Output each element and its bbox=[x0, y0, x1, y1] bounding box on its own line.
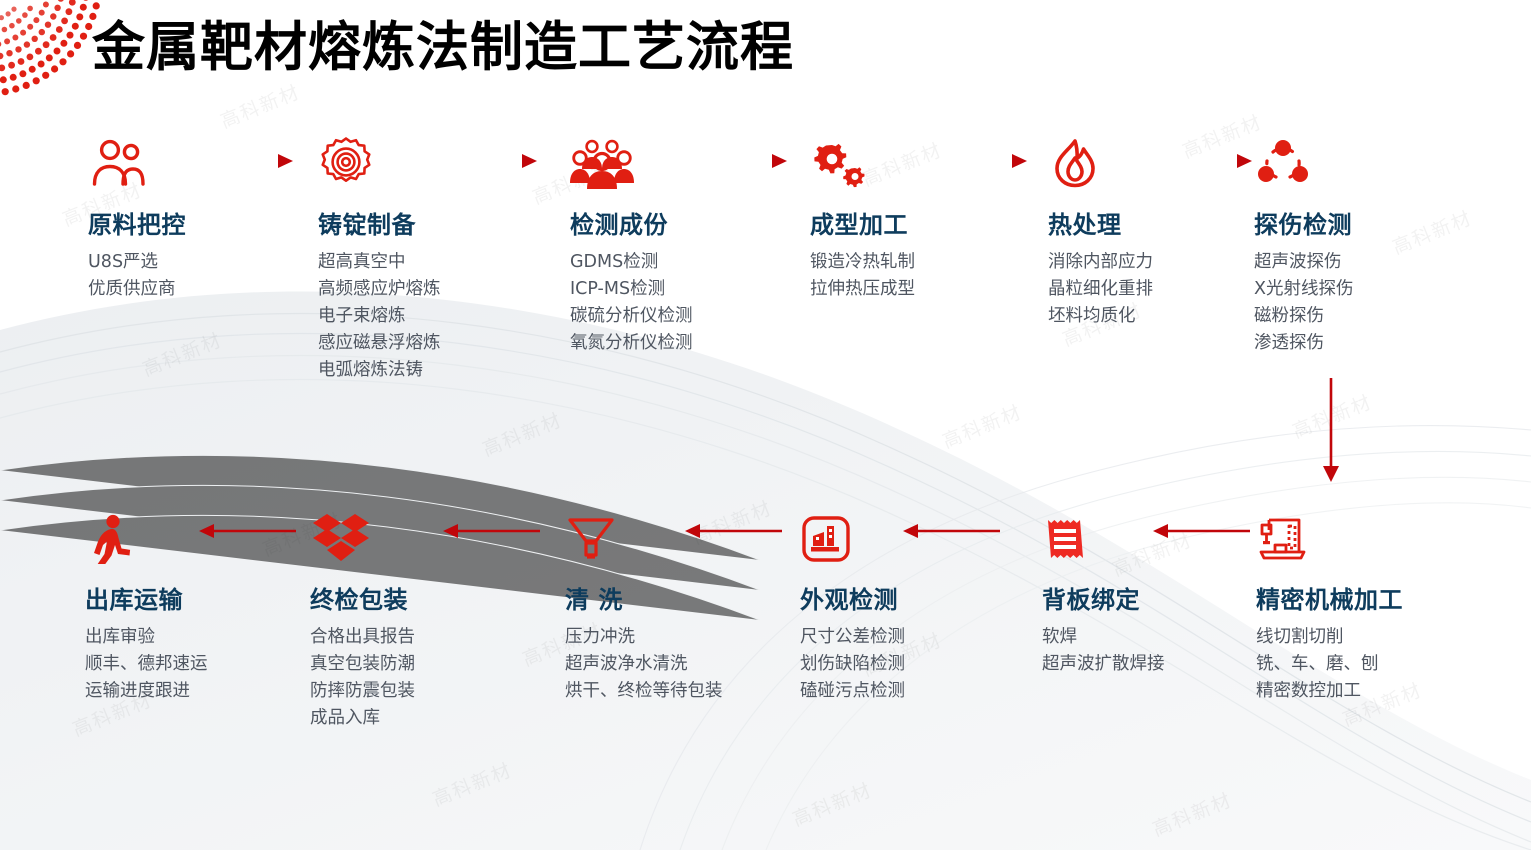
step-item: 软焊 bbox=[1042, 624, 1272, 651]
step-item: 磁粉探伤 bbox=[1254, 303, 1484, 330]
step-item: 感应磁悬浮熔炼 bbox=[318, 330, 548, 357]
step-items: 超声波探伤 X光射线探伤 磁粉探伤 渗透探伤 bbox=[1254, 249, 1484, 357]
step-item: 运输进度跟进 bbox=[85, 678, 315, 705]
step-item: 真空包装防潮 bbox=[310, 651, 540, 678]
step-item: 烘干、终检等待包装 bbox=[565, 678, 725, 705]
step-item: 高频感应炉熔炼 bbox=[318, 276, 548, 303]
step-item: 超声波扩散焊接 bbox=[1042, 651, 1272, 678]
flow-arrow-left-2 bbox=[440, 518, 540, 544]
flow-arrow-right-5 bbox=[1155, 148, 1255, 174]
step-item: 坯料均质化 bbox=[1048, 303, 1278, 330]
flow-arrow-right-2 bbox=[440, 148, 540, 174]
step-item: 出库审验 bbox=[85, 624, 315, 651]
flow-arrow-right-4 bbox=[930, 148, 1030, 174]
step-title: 出库运输 bbox=[85, 580, 315, 615]
step-item: 防摔防震包装 bbox=[310, 678, 540, 705]
step-item: 合格出具报告 bbox=[310, 624, 540, 651]
flow-arrow-right-1 bbox=[196, 148, 296, 174]
step-title: 背板绑定 bbox=[1042, 580, 1272, 615]
flow-step-6[interactable]: 探伤检测 超声波探伤 X光射线探伤 磁粉探伤 渗透探伤 bbox=[1254, 133, 1484, 357]
step-item: 尺寸公差检测 bbox=[800, 624, 1030, 651]
step-item: 成品入库 bbox=[310, 705, 540, 732]
step-item: 划伤缺陷检测 bbox=[800, 651, 1030, 678]
flow-arrow-left-4 bbox=[900, 518, 1000, 544]
step-item: 碳硫分析仪检测 bbox=[570, 303, 800, 330]
flow-arrow-down-vertical bbox=[1318, 378, 1344, 483]
flow-arrow-left-5 bbox=[1150, 518, 1250, 544]
step-item: U8S严选 bbox=[88, 249, 318, 276]
step-title: 原料把控 bbox=[88, 205, 318, 240]
step-item: 超声波探伤 bbox=[1254, 249, 1484, 276]
step-item: 压力冲洗 bbox=[565, 624, 725, 651]
step-title: 检测成份 bbox=[570, 205, 800, 240]
step-item: 超声波净水清洗 bbox=[565, 651, 725, 678]
step-title: 热处理 bbox=[1048, 205, 1278, 240]
step-items: 尺寸公差检测 划伤缺陷检测 磕碰污点检测 bbox=[800, 624, 1030, 705]
flow-arrow-right-3 bbox=[690, 148, 790, 174]
step-title: 终检包装 bbox=[310, 580, 540, 615]
step-items: 软焊 超声波扩散焊接 bbox=[1042, 624, 1272, 678]
step-item: 电子束熔炼 bbox=[318, 303, 548, 330]
step-title: 清 洗 bbox=[565, 580, 795, 615]
flow-step-7[interactable]: 精密机械加工 线切割切削 铣、车、磨、刨 精密数控加工 bbox=[1256, 508, 1486, 705]
step-item: 线切割切削 bbox=[1256, 624, 1486, 651]
step-item: GDMS检测 bbox=[570, 249, 800, 276]
step-items: 超高真空中 高频感应炉熔炼 电子束熔炼 感应磁悬浮熔炼 电弧熔炼法铸 bbox=[318, 249, 548, 384]
background-decoration: 高科新材 高科新材 高科新材 高科新材 高科新材 高科新材 高科新材 高科新材 … bbox=[0, 0, 1531, 850]
step-items: GDMS检测 ICP-MS检测 碳硫分析仪检测 氧氮分析仪检测 bbox=[570, 249, 800, 357]
step-item: 超高真空中 bbox=[318, 249, 548, 276]
step-item: 氧氮分析仪检测 bbox=[570, 330, 800, 357]
flow-arrow-left-1 bbox=[196, 518, 296, 544]
step-item: 渗透探伤 bbox=[1254, 330, 1484, 357]
step-title: 铸锭制备 bbox=[318, 205, 548, 240]
step-title: 探伤检测 bbox=[1254, 205, 1484, 240]
step-title: 精密机械加工 bbox=[1256, 580, 1486, 615]
step-items: 消除内部应力 晶粒细化重排 坯料均质化 bbox=[1048, 249, 1278, 330]
step-item: 优质供应商 bbox=[88, 276, 318, 303]
step-items: 锻造冷热轧制 拉伸热压成型 bbox=[810, 249, 1040, 303]
three-dots-triangle-icon bbox=[1254, 133, 1484, 189]
step-item: 锻造冷热轧制 bbox=[810, 249, 1040, 276]
step-item: 顺丰、德邦速运 bbox=[85, 651, 315, 678]
step-item: ICP-MS检测 bbox=[570, 276, 800, 303]
step-item: 消除内部应力 bbox=[1048, 249, 1278, 276]
step-item: 晶粒细化重排 bbox=[1048, 276, 1278, 303]
step-items: 合格出具报告 真空包装防潮 防摔防震包装 成品入库 bbox=[310, 624, 540, 732]
step-item: 电弧熔炼法铸 bbox=[318, 357, 548, 384]
step-item: 精密数控加工 bbox=[1256, 678, 1486, 705]
step-title: 外观检测 bbox=[800, 580, 1030, 615]
step-items: 压力冲洗 超声波净水清洗 烘干、终检等待包装 bbox=[565, 624, 795, 705]
page-title: 金属靶材熔炼法制造工艺流程 bbox=[92, 5, 794, 81]
step-item: 磕碰污点检测 bbox=[800, 678, 1030, 705]
step-title: 成型加工 bbox=[810, 205, 1040, 240]
step-items: U8S严选 优质供应商 bbox=[88, 249, 318, 303]
step-item: 铣、车、磨、刨 bbox=[1256, 651, 1486, 678]
flow-arrow-left-3 bbox=[682, 518, 782, 544]
step-items: 出库审验 顺丰、德邦速运 运输进度跟进 bbox=[85, 624, 315, 705]
step-items: 线切割切削 铣、车、磨、刨 精密数控加工 bbox=[1256, 624, 1486, 705]
step-item: 拉伸热压成型 bbox=[810, 276, 1040, 303]
cnc-machine-icon bbox=[1256, 508, 1486, 564]
step-item: X光射线探伤 bbox=[1254, 276, 1484, 303]
